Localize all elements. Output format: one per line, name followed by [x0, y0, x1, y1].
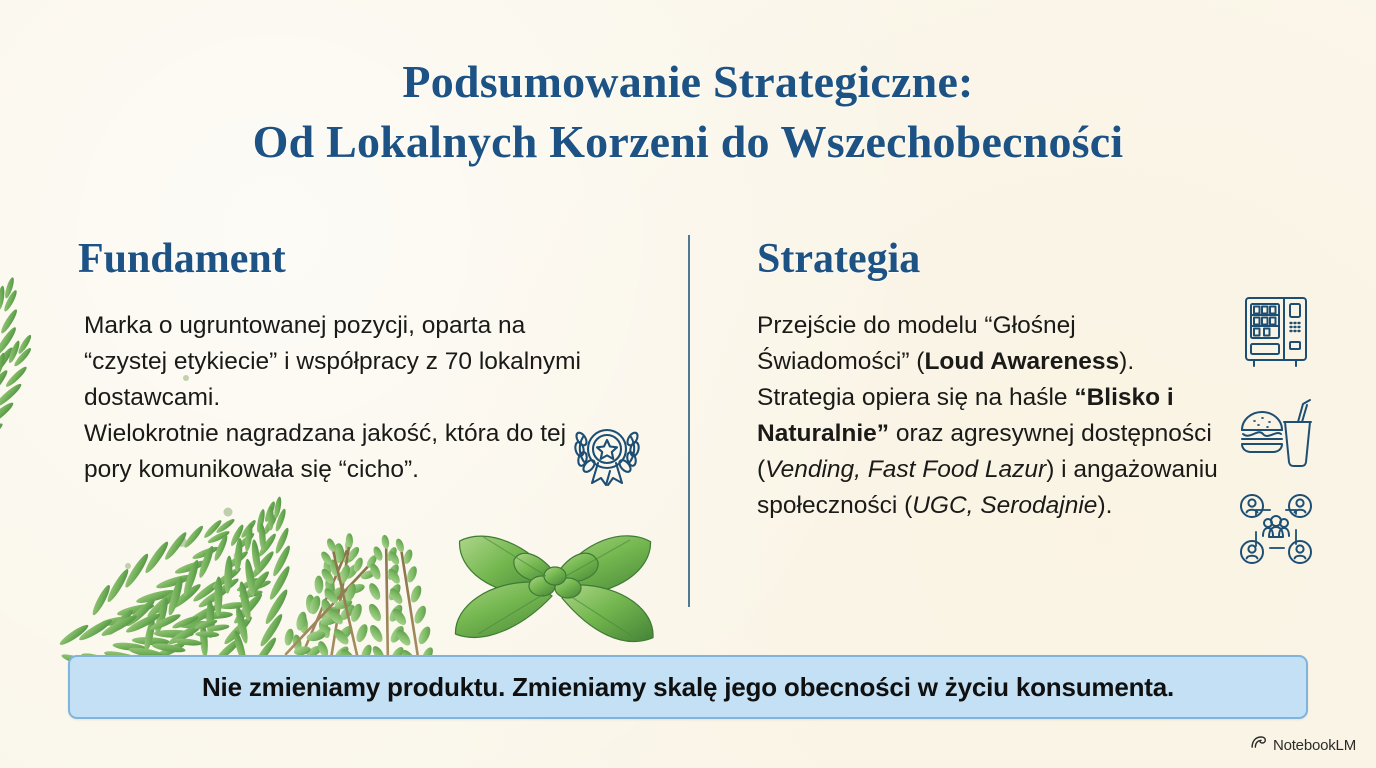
left-column-body: Marka o ugruntowanej pozycji, oparta na …	[84, 308, 584, 488]
basil-plant	[455, 526, 654, 646]
rosemary-upper	[0, 269, 38, 449]
thyme-cluster-6	[382, 535, 437, 670]
thyme-cluster-4	[364, 534, 410, 669]
right-p2-part1: Strategia opiera się na haśle	[757, 384, 1074, 411]
notebooklm-logo-icon	[1250, 734, 1267, 756]
title-line-1: Podsumowanie Strategiczne:	[0, 52, 1376, 112]
right-p1-after: ).	[1119, 348, 1134, 375]
left-column-heading: Fundament	[78, 236, 286, 282]
thyme-cluster-3	[269, 544, 394, 667]
right-column-body: Przejście do modelu “Głośnej Świadomości…	[757, 308, 1219, 524]
vending-machine-icon	[1240, 292, 1312, 377]
rosemary-bouquet-4	[185, 491, 299, 670]
thyme-cluster-1	[278, 529, 374, 667]
thyme-cluster-2	[306, 529, 374, 668]
notebooklm-watermark: NotebookLM	[1250, 734, 1356, 756]
rosemary-upper-2	[0, 321, 53, 495]
title-line-2: Od Lokalnych Korzeni do Wszechobecności	[0, 112, 1376, 172]
notebooklm-label: NotebookLM	[1273, 737, 1356, 754]
rosemary-bouquet-2	[100, 556, 280, 665]
left-paragraph-1: Marka o ugruntowanej pozycji, oparta na …	[84, 308, 584, 416]
right-paragraph-1: Przejście do modelu “Głośnej Świadomości…	[757, 308, 1219, 380]
column-divider	[688, 235, 690, 607]
rosemary-bouquet-5	[223, 492, 306, 670]
award-medal-icon	[570, 415, 644, 494]
right-paragraph-2: Strategia opiera się na haśle “Blisko i …	[757, 380, 1219, 524]
thyme-cluster-5	[313, 533, 377, 670]
slide-title: Podsumowanie Strategiczne: Od Lokalnych …	[0, 52, 1376, 172]
right-p2-part4: ).	[1097, 492, 1112, 519]
rosemary-bouquet-3	[128, 504, 276, 670]
key-message-banner: Nie zmieniamy produktu. Zmieniamy skalę …	[68, 655, 1308, 719]
fast-food-icon	[1238, 396, 1314, 475]
right-column-heading: Strategia	[757, 236, 920, 282]
rosemary-bouquet-1	[79, 498, 250, 643]
right-p1-bold: Loud Awareness	[924, 348, 1119, 375]
community-network-icon	[1238, 492, 1314, 571]
key-message-text: Nie zmieniamy produktu. Zmieniamy skalę …	[202, 672, 1174, 703]
right-p2-italic2: UGC, Serodajnie	[912, 492, 1097, 519]
left-paragraph-2: Wielokrotnie nagradzana jakość, która do…	[84, 416, 584, 488]
right-p2-italic1: Vending, Fast Food Lazur	[765, 456, 1046, 483]
slide-canvas: Podsumowanie Strategiczne: Od Lokalnych …	[0, 0, 1376, 768]
